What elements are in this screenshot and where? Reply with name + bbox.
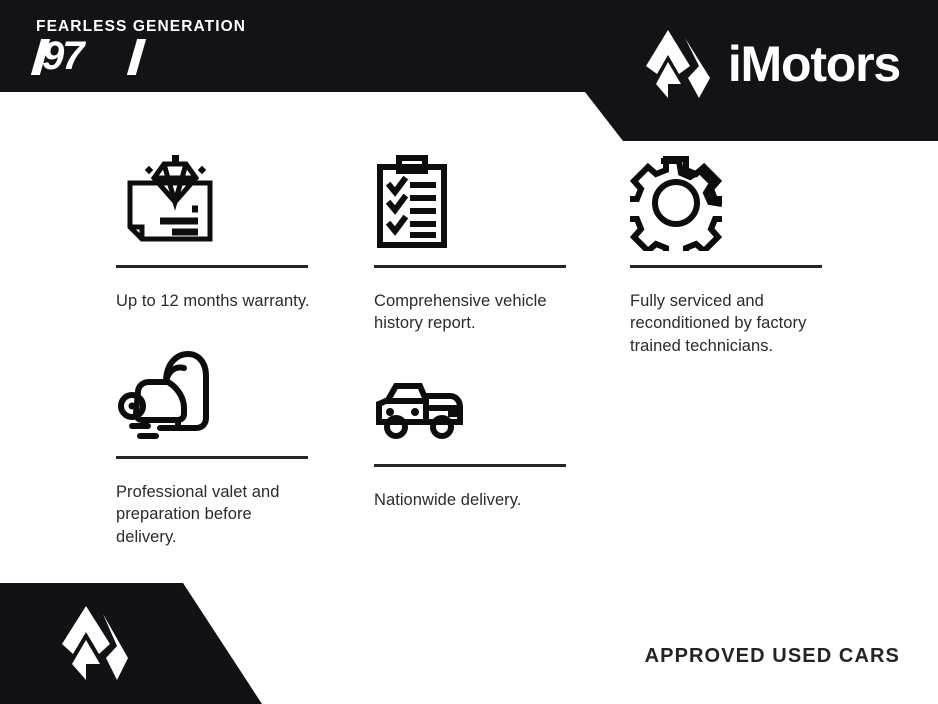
feature-item-history-report: Comprehensive vehicle history report. <box>374 155 574 335</box>
promo-panel: FEARLESS GENERATION 97 iMotors <box>0 0 938 704</box>
header-banner: FEARLESS GENERATION 97 iMotors <box>0 0 938 141</box>
feature-item-delivery: Nationwide delivery. <box>374 346 574 511</box>
feature-label-serviced: Fully serviced and reconditioned by fact… <box>630 290 835 357</box>
year-digits: 97 <box>42 36 83 76</box>
year-slash-right-icon <box>127 39 146 75</box>
approved-used-cars-tagline: APPROVED USED CARS <box>645 645 900 668</box>
car-transporter-truck-icon <box>374 346 574 450</box>
brand-name: iMotors <box>728 39 900 89</box>
feature-divider <box>116 456 308 459</box>
vacuum-cleaner-icon <box>116 346 316 442</box>
footer-angled-block <box>0 583 300 704</box>
imotors-chevron-logo-icon <box>642 26 714 102</box>
fearless-generation-tagline: FEARLESS GENERATION <box>36 18 336 35</box>
features-grid: Up to 12 months warranty. <box>0 141 938 571</box>
feature-item-serviced: Fully serviced and reconditioned by fact… <box>630 155 830 357</box>
feature-divider <box>374 265 566 268</box>
feature-label-warranty: Up to 12 months warranty. <box>116 290 316 312</box>
clipboard-checklist-icon <box>374 155 574 251</box>
year-logo: 97 <box>36 39 146 81</box>
gear-icon <box>630 155 830 251</box>
feature-label-valet: Professional valet and preparation befor… <box>116 481 316 548</box>
imotors-chevron-logo-icon <box>58 600 130 686</box>
brand-lockup: iMotors <box>642 26 900 102</box>
feature-label-history-report: Comprehensive vehicle history report. <box>374 290 574 335</box>
header-left-group: FEARLESS GENERATION 97 <box>36 18 336 81</box>
feature-label-delivery: Nationwide delivery. <box>374 489 574 511</box>
feature-divider <box>630 265 822 268</box>
diamond-certificate-icon <box>116 155 316 251</box>
feature-item-warranty: Up to 12 months warranty. <box>116 155 316 312</box>
feature-divider <box>374 464 566 467</box>
feature-item-valet: Professional valet and preparation befor… <box>116 346 316 548</box>
feature-divider <box>116 265 308 268</box>
